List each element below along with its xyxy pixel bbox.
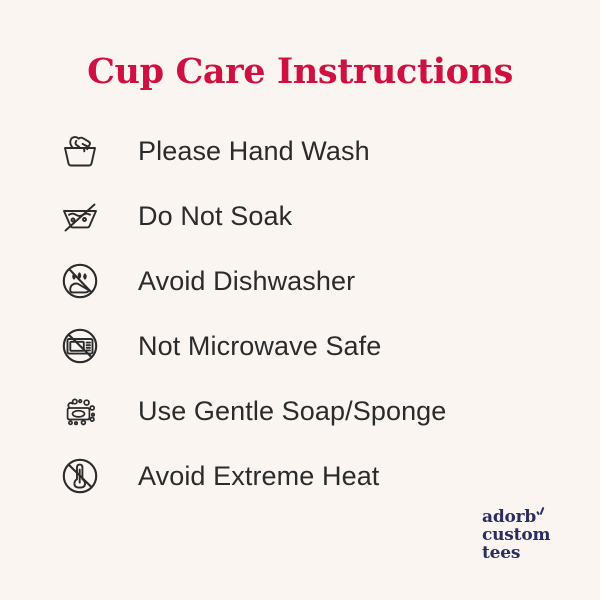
do-not-soak-icon xyxy=(52,188,108,244)
instruction-list: Please Hand Wash Do Not Soak xyxy=(52,118,552,508)
list-item-label: Please Hand Wash xyxy=(138,135,370,167)
check-mark-icon xyxy=(537,508,546,517)
brand-logo: adorb custom tees xyxy=(482,508,550,562)
logo-line-2: custom xyxy=(482,526,550,544)
list-item: Not Microwave Safe xyxy=(52,313,552,378)
list-item: Please Hand Wash xyxy=(52,118,552,183)
logo-line-1: adorb xyxy=(482,508,550,526)
list-item: Avoid Dishwasher xyxy=(52,248,552,313)
list-item-label: Use Gentle Soap/Sponge xyxy=(138,395,446,427)
list-item: Avoid Extreme Heat xyxy=(52,443,552,508)
no-heat-icon xyxy=(52,448,108,504)
list-item: Use Gentle Soap/Sponge xyxy=(52,378,552,443)
logo-line-3: tees xyxy=(482,544,550,562)
no-microwave-icon xyxy=(52,318,108,374)
no-dishwasher-icon xyxy=(52,253,108,309)
list-item: Do Not Soak xyxy=(52,183,552,248)
care-instructions-card: Cup Care Instructions Please Hand Wash xyxy=(0,0,600,600)
hand-wash-icon xyxy=(52,123,108,179)
soap-bubbles-icon xyxy=(52,383,108,439)
list-item-label: Avoid Dishwasher xyxy=(138,265,355,297)
list-item-label: Not Microwave Safe xyxy=(138,330,381,362)
list-item-label: Do Not Soak xyxy=(138,200,292,232)
list-item-label: Avoid Extreme Heat xyxy=(138,460,379,492)
page-title: Cup Care Instructions xyxy=(0,51,600,93)
